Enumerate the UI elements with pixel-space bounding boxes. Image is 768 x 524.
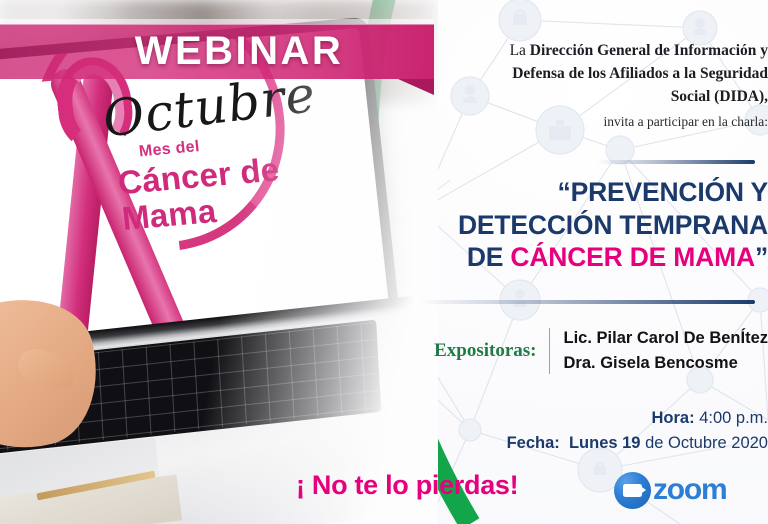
time-value: 4:00 p.m.	[699, 409, 768, 427]
date-rest: de Octubre 2020	[640, 434, 768, 452]
divider-above-title	[597, 160, 755, 164]
intro-plain: La	[510, 42, 530, 59]
intro-bold-3: Social (DIDA),	[671, 88, 768, 105]
close-quote: ”	[755, 242, 768, 272]
title-line-1: PREVENCIÓN Y	[571, 177, 768, 207]
open-quote: “	[558, 177, 571, 207]
intro-bold-1: Dirección General de Información y	[530, 42, 768, 59]
schedule-section: Hora: 4:00 p.m. Fecha: Lunes 19 de Octub…	[428, 406, 768, 456]
zoom-logo: zoom	[614, 470, 727, 510]
intro-paragraph: La Dirección General de Información y De…	[434, 40, 768, 132]
title-line-2: DETECCIÓN TEMPRANA	[458, 210, 768, 240]
date-label: Fecha:	[507, 434, 560, 452]
webinar-banner: WEBINAR	[0, 24, 440, 90]
speaker-name-2: Dra. Gisela Bencosme	[564, 351, 768, 376]
zoom-circle-mark	[614, 472, 651, 509]
intro-bold-2: Defensa de los Afiliados a la Seguridad	[512, 65, 768, 82]
time-label: Hora:	[652, 409, 695, 427]
title-line-3-prefix: DE	[467, 242, 511, 272]
webinar-poster: Octubre Mes del Cáncer de Mama DIDA COMP…	[0, 0, 768, 524]
speakers-names: Lic. Pilar Carol De BenÍtez Dra. Gisela …	[550, 326, 768, 376]
video-camera-icon	[623, 484, 642, 497]
date-day: Lunes 19	[569, 434, 641, 452]
speakers-label: Expositoras:	[434, 340, 548, 362]
speaker-name-1: Lic. Pilar Carol De BenÍtez	[564, 326, 768, 351]
time-row: Hora: 4:00 p.m.	[428, 406, 768, 431]
zoom-wordmark: zoom	[653, 473, 727, 507]
divider-above-speakers	[419, 300, 755, 304]
content-column: La Dirección General de Información y De…	[420, 0, 768, 524]
intro-invitation: invita a participar en la charla:	[434, 112, 768, 132]
title-highlight: CÁNCER DE MAMA	[510, 242, 755, 272]
speakers-section: Expositoras: Lic. Pilar Carol De BenÍtez…	[424, 326, 768, 376]
banner-label: WEBINAR	[0, 24, 434, 79]
date-row: Fecha: Lunes 19 de Octubre 2020	[428, 431, 768, 456]
call-to-action: ¡ No te lo pierdas!	[296, 470, 518, 501]
talk-title: “PREVENCIÓN Y DETECCIÓN TEMPRANA DE CÁNC…	[428, 176, 768, 274]
